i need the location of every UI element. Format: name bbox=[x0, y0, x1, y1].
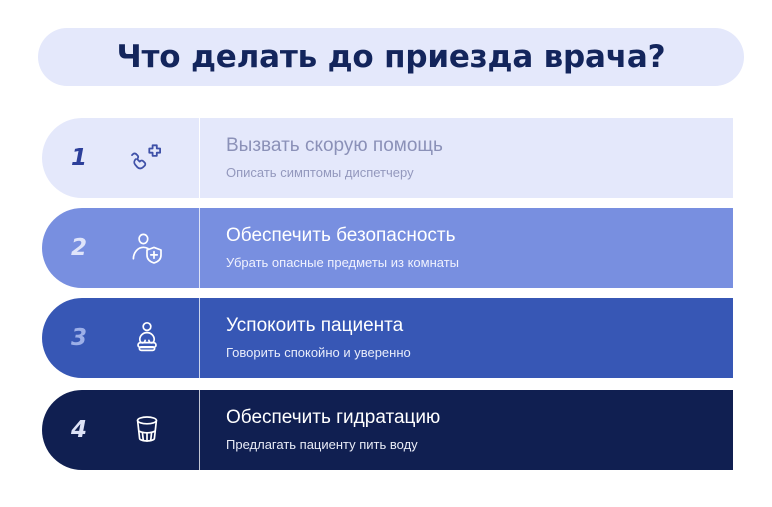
infographic-canvas: Что делать до приезда врача? 1 Вызвать с… bbox=[0, 0, 772, 507]
step-row-4[interactable]: 4 Обеспечить гидратацию Предлагать пацие… bbox=[42, 390, 733, 470]
step-lead-4: 4 bbox=[42, 390, 200, 470]
step-divider-1 bbox=[199, 118, 201, 198]
step-row-3[interactable]: 3 Успокоить пациента Говорить спокойно и… bbox=[42, 298, 733, 378]
step-row-1[interactable]: 1 Вызвать скорую помощь Описать симптомы… bbox=[42, 118, 733, 198]
step-subtitle-4: Предлагать пациенту пить воду bbox=[226, 438, 733, 452]
title-banner: Что делать до приезда врача? bbox=[38, 28, 744, 86]
step-divider-3 bbox=[199, 298, 201, 378]
step-body-3: Успокоить пациента Говорить спокойно и у… bbox=[200, 298, 733, 378]
step-subtitle-1: Описать симптомы диспетчеру bbox=[226, 166, 733, 180]
step-number-1: 1 bbox=[42, 145, 116, 171]
step-lead-2: 2 bbox=[42, 208, 200, 288]
step-title-3: Успокоить пациента bbox=[226, 316, 733, 337]
water-glass-icon bbox=[116, 410, 178, 450]
step-row-2[interactable]: 2 Обеспечить безопасность Убрать опасные… bbox=[42, 208, 733, 288]
step-body-4: Обеспечить гидратацию Предлагать пациент… bbox=[200, 390, 733, 470]
step-title-2: Обеспечить безопасность bbox=[226, 226, 733, 247]
step-subtitle-2: Убрать опасные предметы из комнаты bbox=[226, 256, 733, 270]
step-lead-3: 3 bbox=[42, 298, 200, 378]
step-title-4: Обеспечить гидратацию bbox=[226, 408, 733, 429]
step-number-3: 3 bbox=[42, 325, 116, 351]
step-title-1: Вызвать скорую помощь bbox=[226, 136, 733, 157]
step-body-1: Вызвать скорую помощь Описать симптомы д… bbox=[200, 118, 733, 198]
person-shield-plus-icon bbox=[116, 228, 178, 268]
meditating-person-icon bbox=[116, 318, 178, 358]
step-number-2: 2 bbox=[42, 235, 116, 261]
step-lead-1: 1 bbox=[42, 118, 200, 198]
step-body-2: Обеспечить безопасность Убрать опасные п… bbox=[200, 208, 733, 288]
step-divider-2 bbox=[199, 208, 201, 288]
step-number-4: 4 bbox=[42, 417, 116, 443]
step-divider-4 bbox=[199, 390, 201, 470]
step-subtitle-3: Говорить спокойно и уверенно bbox=[226, 346, 733, 360]
phone-medical-cross-icon bbox=[116, 138, 178, 178]
page-title: Что делать до приезда врача? bbox=[117, 39, 666, 75]
